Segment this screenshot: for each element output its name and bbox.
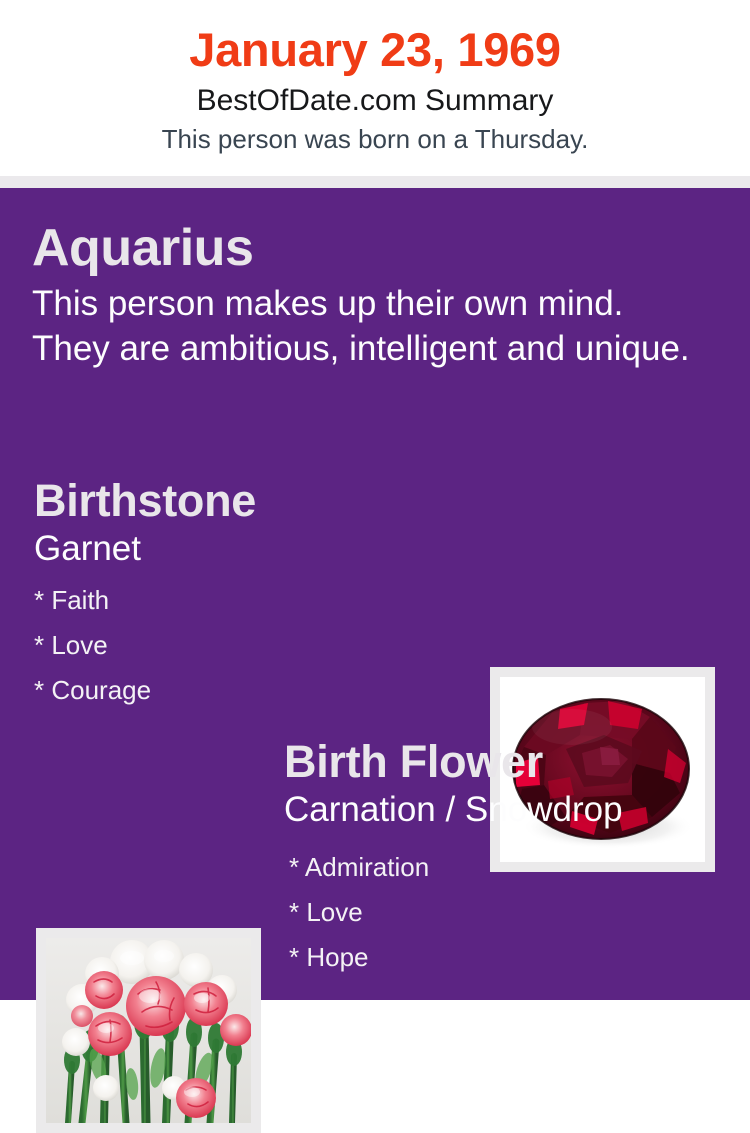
- birthflower-image: [46, 938, 251, 1123]
- header-divider: [0, 176, 750, 188]
- carnation-bouquet-icon: [46, 938, 251, 1123]
- zodiac-sign-name: Aquarius: [32, 219, 692, 277]
- birthflower-trait-list: * Admiration * Love * Hope: [284, 831, 734, 980]
- birthstone-trait-list: * Faith * Love * Courage: [34, 570, 464, 713]
- zodiac-section: Aquarius This person makes up their own …: [32, 219, 692, 371]
- zodiac-description: This person makes up their own mind. The…: [32, 277, 692, 371]
- header: January 23, 1969 BestOfDate.com Summary …: [0, 0, 750, 176]
- born-weekday-text: This person was born on a Thursday.: [0, 119, 750, 155]
- birthflower-title: Birth Flower: [284, 737, 734, 787]
- list-item: * Admiration: [284, 845, 734, 890]
- page-title: January 23, 1969: [0, 0, 750, 77]
- list-item: * Love: [284, 890, 734, 935]
- birthflower-image-frame: [36, 928, 261, 1133]
- list-item: * Love: [34, 623, 464, 668]
- list-item: * Faith: [34, 578, 464, 623]
- site-summary-label: BestOfDate.com Summary: [0, 77, 750, 119]
- birthflower-name: Carnation / Snowdrop: [284, 787, 734, 831]
- summary-infographic: January 23, 1969 BestOfDate.com Summary …: [0, 0, 750, 1000]
- details-panel: Aquarius This person makes up their own …: [0, 188, 750, 1000]
- list-item: * Courage: [34, 668, 464, 713]
- birthstone-name: Garnet: [34, 526, 464, 570]
- birthstone-section: Birthstone Garnet * Faith * Love * Coura…: [34, 476, 464, 713]
- birthflower-section: Birth Flower Carnation / Snowdrop * Admi…: [284, 737, 734, 980]
- birthstone-title: Birthstone: [34, 476, 464, 526]
- list-item: * Hope: [284, 935, 734, 980]
